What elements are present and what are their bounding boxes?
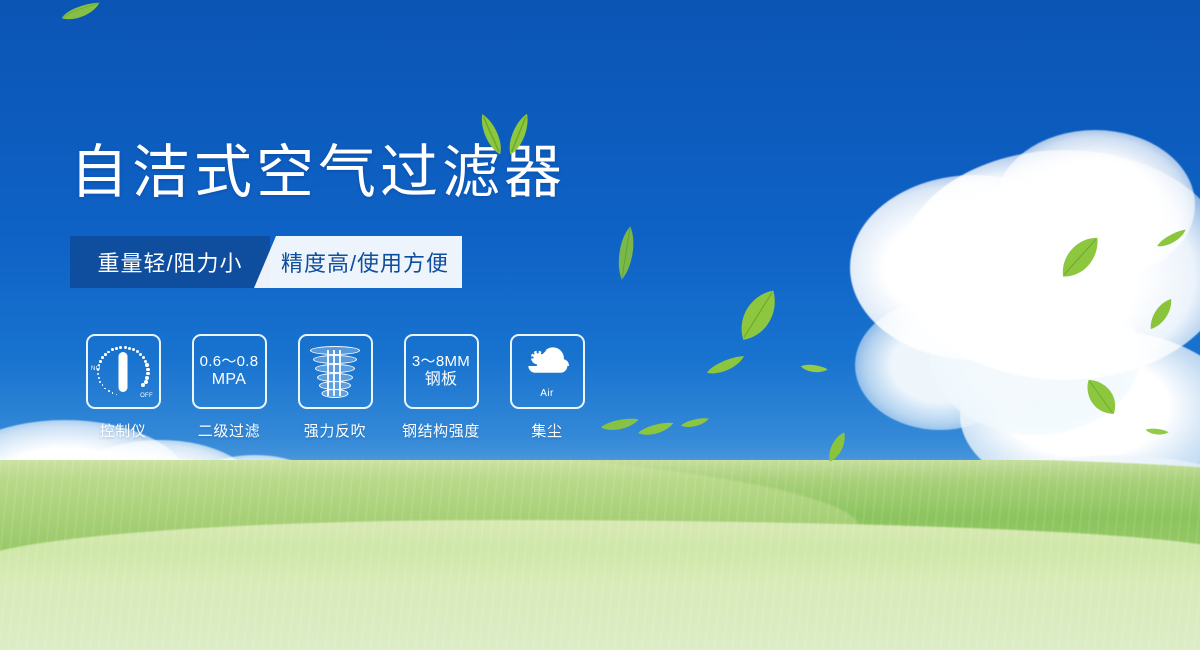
feature-label: 强力反吹 xyxy=(304,420,366,441)
dial-tick-dot xyxy=(146,372,150,376)
subtitle-left-text: 重量轻/阻力小 xyxy=(97,246,242,278)
subtitle-right-panel: 精度高/使用方便 xyxy=(254,236,462,288)
dial-tick-dot xyxy=(124,346,127,349)
dial-needle xyxy=(119,352,128,392)
cloud-sun-air-icon: Air xyxy=(517,346,577,398)
feature-item-reverse-blow[interactable]: 强力反吹 xyxy=(282,334,388,441)
feature-icon-box: NO OFF xyxy=(86,334,161,409)
feature-icon-box: 0.6～0.8 MPA xyxy=(192,334,267,409)
subtitle-right-text: 精度高/使用方便 xyxy=(267,246,449,278)
feature-label: 钢结构强度 xyxy=(402,420,480,441)
feature-label: 控制仪 xyxy=(100,420,147,441)
dial-tick-dot xyxy=(142,356,145,359)
dial-tick-dot xyxy=(104,388,106,390)
subtitle-bar: 重量轻/阻力小 精度高/使用方便 xyxy=(70,236,462,288)
dial-tick-dot xyxy=(101,356,104,359)
steel-text-icon: 3～8MM 钢板 xyxy=(412,353,470,390)
dial-tick-dot xyxy=(97,368,99,370)
promotional-banner: 自洁式空气过滤器 重量轻/阻力小 精度高/使用方便 xyxy=(0,0,1200,650)
dial-tick-dot xyxy=(116,394,118,396)
air-caption: Air xyxy=(517,388,577,399)
dial-tick-dot xyxy=(146,368,150,372)
dial-tick-dot xyxy=(132,348,135,351)
coil-filter-icon xyxy=(309,344,361,400)
feature-list: NO OFF 控制仪 0.6～0.8 MPA 二级过滤 xyxy=(70,334,600,441)
feature-item-steel-strength[interactable]: 3～8MM 钢板 钢结构强度 xyxy=(388,334,494,441)
feature-icon-box: Air xyxy=(510,334,585,409)
banner-content: 自洁式空气过滤器 重量轻/阻力小 精度高/使用方便 xyxy=(0,0,1200,650)
feature-icon-box xyxy=(298,334,373,409)
title-leaves-decoration xyxy=(474,106,536,158)
dial-tick-dot xyxy=(99,360,101,362)
feature-icon-box: 3～8MM 钢板 xyxy=(404,334,479,409)
dial-tick-dot xyxy=(97,373,99,375)
dial-off-label: OFF xyxy=(140,393,153,399)
dial-tick-dot xyxy=(119,346,122,349)
steel-thickness: 3～8MM xyxy=(412,353,470,371)
feature-item-dust-collection[interactable]: Air 集尘 xyxy=(494,334,600,441)
subtitle-left-panel: 重量轻/阻力小 xyxy=(70,236,270,288)
feature-item-secondary-filtration[interactable]: 0.6～0.8 MPA 二级过滤 xyxy=(176,334,282,441)
dial-tick-dot xyxy=(115,347,118,350)
dial-tick-dot xyxy=(99,381,101,383)
dial-tick-dot xyxy=(98,377,100,379)
pressure-range: 0.6～0.8 xyxy=(200,353,259,371)
steel-material: 钢板 xyxy=(412,371,470,390)
dial-tick-dot xyxy=(107,351,110,354)
pressure-text-icon: 0.6～0.8 MPA xyxy=(200,353,259,390)
dial-tick-dot xyxy=(145,363,149,367)
dial-tick-dot xyxy=(141,383,145,387)
dial-tick-dot xyxy=(128,347,131,350)
dial-gauge-icon: NO OFF xyxy=(92,343,154,401)
feature-label: 二级过滤 xyxy=(198,420,260,441)
pressure-unit: MPA xyxy=(200,371,259,390)
dial-tick-dot xyxy=(112,392,114,394)
dial-tick-dot xyxy=(108,390,110,392)
dial-tick-dot xyxy=(104,353,107,356)
dial-on-label: NO xyxy=(91,366,101,372)
dial-tick-dot xyxy=(102,384,104,386)
feature-label: 集尘 xyxy=(531,420,562,441)
feature-item-controller[interactable]: NO OFF 控制仪 xyxy=(70,334,176,441)
dial-tick-dot xyxy=(111,348,114,351)
